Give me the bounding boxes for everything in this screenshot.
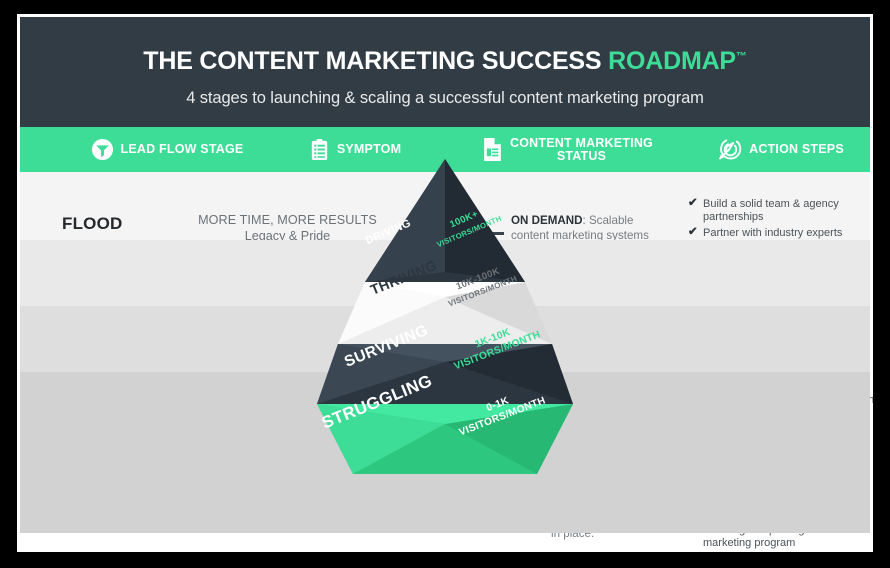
stage-rows: FLOOD MORE TIME, MORE RESULTS Legacy & P… [20,172,870,533]
list-item: ✔Partner with industry experts [688,227,873,240]
connector-line [480,232,504,235]
trademark-symbol: ™ [736,51,747,63]
symptom-upper: MORE TIME, MORE RESULTS [198,213,377,227]
action-text: Build a solid team & agency partnerships [703,198,839,223]
table-row: FLOW SOME TIME, MORE RESULTS Restless bu… [20,240,870,306]
funnel-icon [91,138,114,161]
table-row: DROUGHT NO TIME, NO RESULTS Frustrated &… [20,372,870,533]
column-header-action-steps: ACTION STEPS [685,127,873,172]
column-header-symptom: SYMPTOM [270,127,440,172]
column-header-content-marketing-status: CONTENT MARKETINGSTATUS [460,127,675,172]
rocket-icon [716,137,742,162]
column-label: LEAD FLOW STAGE [121,143,244,156]
table-row: FLOOD MORE TIME, MORE RESULTS Legacy & P… [20,172,870,240]
column-header-lead-flow-stage: LEAD FLOW STAGE [62,127,272,172]
page-title: THE CONTENT MARKETING SUCCESS ROADMAP™ [20,47,870,76]
action-text: Partner with industry experts [703,227,842,239]
header-banner: THE CONTENT MARKETING SUCCESS ROADMAP™ 4… [20,17,870,127]
column-label-line2: STATUS [557,149,606,163]
list-item: ✔Build a solid team & agency partnership… [688,198,873,225]
infographic-page: THE CONTENT MARKETING SUCCESS ROADMAP™ 4… [17,14,873,552]
page-subtitle: 4 stages to launching & scaling a succes… [20,89,870,108]
column-header-bar: LEAD FLOW STAGE SYMPTOM [20,127,870,172]
column-label: CONTENT MARKETINGSTATUS [510,137,653,163]
table-row: TRICKLE NO TIME, SOME RESULTS Exhausted … [20,306,870,372]
column-label-line1: CONTENT MARKETING [510,136,653,150]
check-icon: ✔ [688,197,698,210]
status-label: ON DEMAND [511,214,583,227]
document-icon [482,137,503,162]
title-main: THE CONTENT MARKETING SUCCESS [143,47,608,75]
title-accent: ROADMAP [608,47,736,75]
clipboard-icon [309,138,330,161]
column-label: ACTION STEPS [749,143,844,156]
check-icon: ✔ [688,226,698,239]
column-label: SYMPTOM [337,143,401,156]
